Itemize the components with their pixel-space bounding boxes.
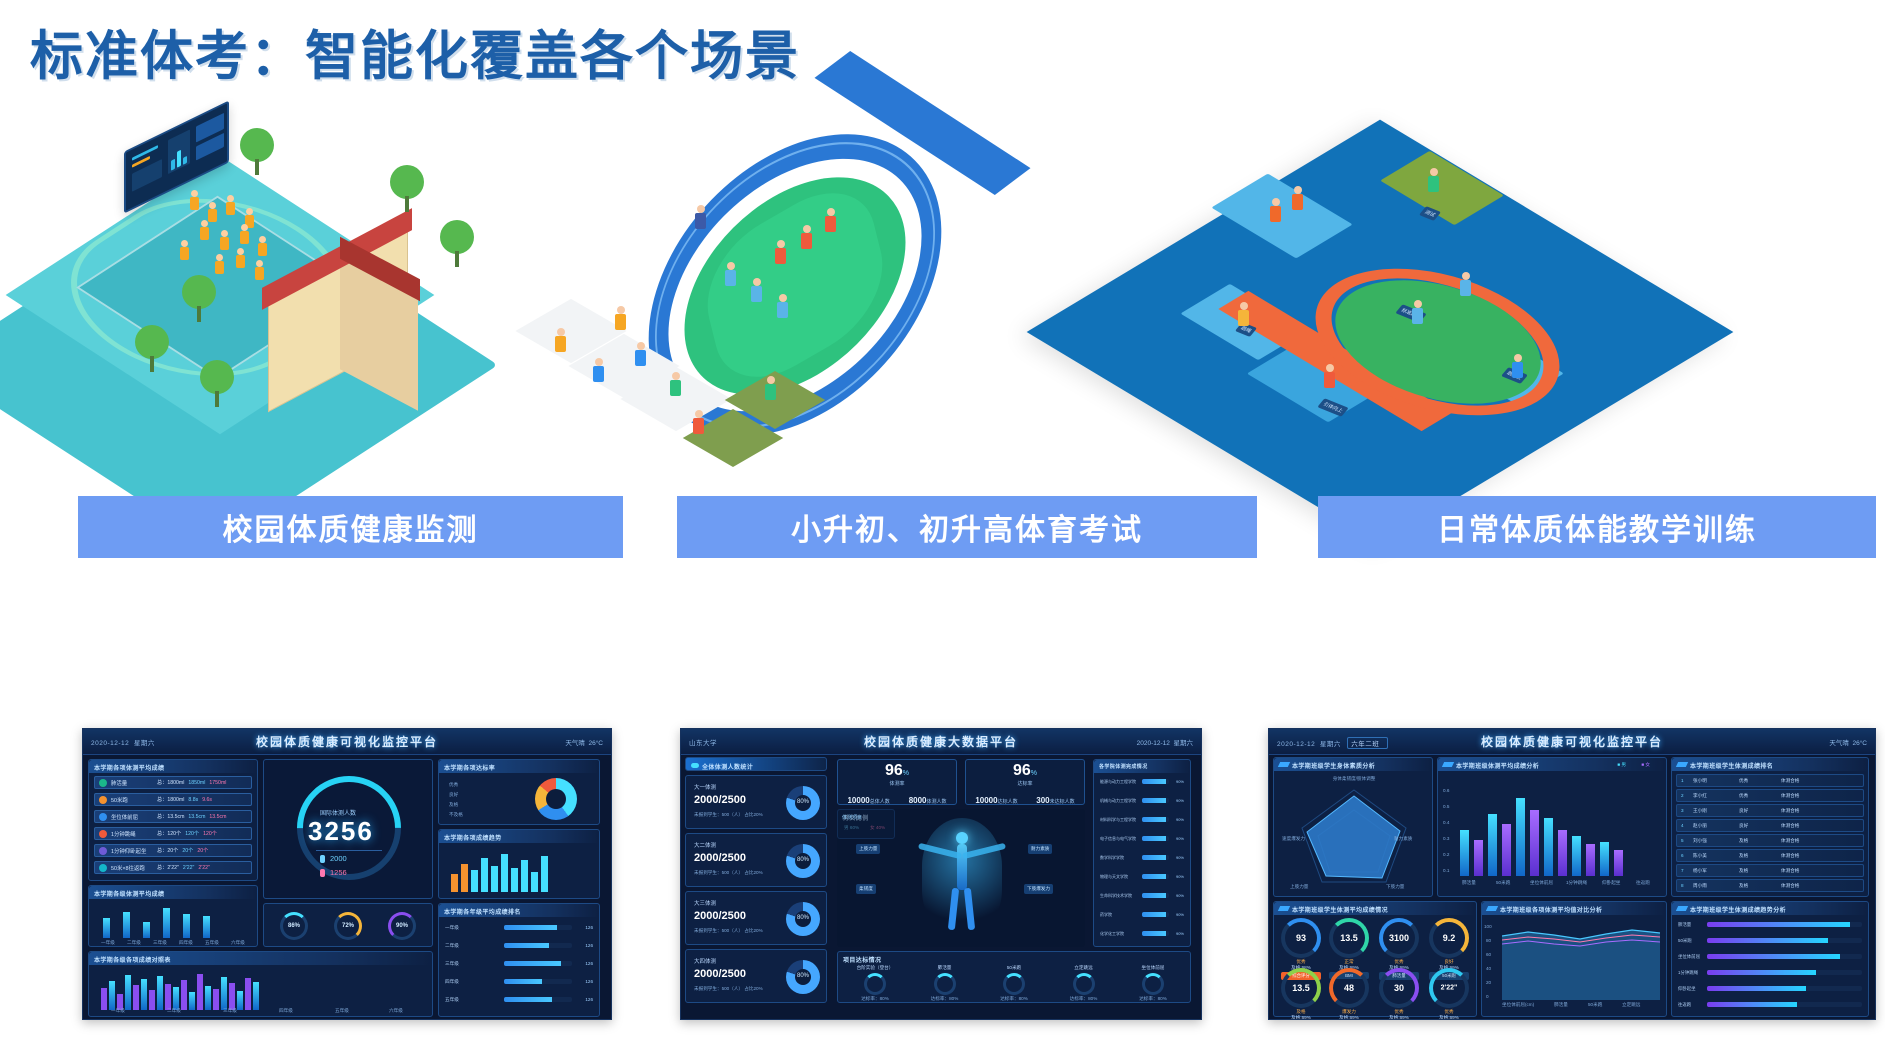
student-name: 赵小丽	[1693, 823, 1735, 829]
panel-title: 项目达标情况	[843, 955, 881, 964]
grade-name: 大四体测	[694, 957, 716, 965]
bar	[123, 912, 130, 938]
rank-value: 126	[575, 943, 593, 948]
bar	[103, 918, 110, 938]
bar-female	[1614, 850, 1623, 876]
college-percent: 90%	[1171, 855, 1184, 860]
kpi-unit: %	[903, 770, 909, 777]
panel-class-gauges[interactable]: 本学期班级学生体测平均成绩情况 93 优秀 及格:68% 综合评分 13.5 正…	[1273, 901, 1477, 1017]
gauge-value: 2'22"	[1433, 985, 1465, 992]
student-name: 陈小美	[1693, 853, 1735, 859]
tree-icon	[440, 220, 474, 267]
dashboard-1-header: 2020-12-12 星期六 校园体质健康可视化监控平台 天气晴 26°C	[83, 729, 611, 755]
panel-title: 本学期班级学生身体素质分析	[1292, 761, 1375, 770]
student-name: 李小红	[1693, 793, 1735, 799]
bar-xtick: 二年级	[127, 940, 141, 946]
gauge-value: 3100	[1383, 933, 1415, 943]
metric-gauge[interactable]: 30 优秀 及格:69% 1分钟仰卧起坐	[1376, 968, 1422, 1020]
area-xtick: 50米跑	[1588, 1002, 1602, 1008]
grade-percent: 80%	[786, 973, 820, 979]
rank-row: 五年级 126	[445, 994, 593, 1005]
college-label: 电子信息与电气学院	[1100, 836, 1140, 842]
hbar-row: 坐位体前屈	[1678, 952, 1862, 961]
item-rate: 达标率：80%	[912, 996, 978, 1002]
pie-legend-item: 优秀	[449, 782, 458, 788]
ring-stat: 72%	[334, 912, 362, 940]
tree-icon	[200, 360, 234, 407]
rank-track	[504, 943, 572, 948]
bar-female	[1474, 840, 1483, 876]
caption-text: 校园体质健康监测	[223, 505, 479, 549]
hbar-track	[1707, 922, 1862, 927]
kpi-n1: 10000	[847, 796, 869, 805]
rank-track	[504, 997, 572, 1002]
bar-xtick: 仰卧起坐	[1602, 880, 1620, 886]
panel-pass-rate-pie[interactable]: 本学期各项达标率 优秀 良好 及格 不及格	[438, 759, 600, 825]
dashboard-2-body: 全体体测人数统计 大一体测 2000/2500 未报到学生：500（人） 占比2…	[681, 755, 1201, 1020]
gauge-value: 48	[1333, 983, 1365, 993]
tree-icon	[390, 165, 424, 212]
caption-banner-daily[interactable]: 日常体质体能教学训练	[1318, 496, 1876, 558]
radar-axis-label: 上肢力量	[1290, 884, 1308, 890]
college-percent: 90%	[1171, 836, 1184, 841]
college-percent: 90%	[1171, 874, 1184, 879]
metric-row: 肺活量 总：1800ml 1850ml 1750ml	[94, 776, 252, 789]
kpi-caption: 体测率	[838, 780, 956, 787]
item-pass-card[interactable]: 立定跳远 达标率：80%	[1051, 965, 1117, 1002]
student-name: 张小明	[1693, 778, 1735, 784]
student-figure	[226, 195, 235, 215]
student-name: 杨小军	[1693, 868, 1735, 874]
body-badge: 上肢力量	[856, 844, 880, 854]
compare-xtick: 四年级	[279, 1008, 293, 1014]
rank-index: 8	[1681, 883, 1689, 888]
rank-track	[504, 979, 572, 984]
metric-gauge[interactable]: 48 爆发力 及格:69% 立定跳远	[1326, 968, 1372, 1020]
metric-row: 50米×8往返跑 总：2'22" 2'22" 2'22"	[94, 861, 252, 874]
grade-ratio: 2000/2500	[694, 968, 746, 980]
grade-name: 大一体测	[694, 783, 716, 791]
runner-figure	[695, 205, 706, 229]
total-gauge-value: 3256	[308, 816, 374, 847]
bar-xtick: 往返跑	[1636, 880, 1650, 886]
item-ring	[934, 973, 956, 995]
rank-index: 1	[1681, 778, 1689, 783]
caption-text: 小升初、初升高体育考试	[791, 505, 1143, 549]
hbar-row: 50米跑	[1678, 936, 1862, 945]
item-ring	[1073, 973, 1095, 995]
metric-female: 20个	[197, 847, 208, 854]
area-ytick: 20	[1486, 980, 1491, 985]
dashboard-1-body: 本学期各项体测平均成绩 肺活量 总：1800ml 1850ml 1750ml 5…	[83, 755, 611, 1020]
illustration-campus	[40, 120, 510, 430]
panel-total-gauge[interactable]: 国际体测人数 3256 2000 1256	[263, 759, 433, 899]
gauge-value: 9.2	[1433, 933, 1465, 943]
dashboard-3-datetime: 2020-12-12 星期六 六年二班	[1277, 737, 1388, 749]
metric-male: 120个	[185, 830, 199, 837]
ring-value: 90%	[391, 923, 413, 929]
college-percent: 90%	[1171, 798, 1184, 803]
item-pass-card[interactable]: 台阶实验（登台） 达标率：80%	[842, 965, 908, 1002]
panel-title: 本学期各项体测平均成绩	[94, 763, 164, 772]
grade-card[interactable]: 大三体测 2000/2500 未报到学生：500（人） 占比20% 80%	[685, 891, 827, 945]
college-percent: 90%	[1171, 893, 1184, 898]
weather-text: 天气晴	[565, 740, 585, 747]
bar-male	[1572, 836, 1581, 876]
weather-text: 天气晴	[1829, 740, 1849, 747]
weekday-text: 星期六	[1320, 741, 1341, 748]
student-figure	[190, 190, 199, 210]
college-row: 材料科学与工程学院 90%	[1100, 814, 1184, 825]
panel-title: 本学期班级学生体测平均成绩情况	[1292, 905, 1388, 914]
college-row: 化学化工学院 90%	[1100, 928, 1184, 939]
metric-female: 9.6s	[202, 797, 212, 803]
bar-xtick: 三年级	[153, 940, 167, 946]
college-row: 数学科学学院 90%	[1100, 852, 1184, 863]
body-badge: 柔韧度	[856, 884, 876, 894]
area-ytick: 60	[1486, 952, 1491, 957]
dashboard-bigdata-platform[interactable]: 山东大学 校园体质健康大数据平台 2020-12-12 星期六 全体体测人数统计…	[680, 728, 1202, 1020]
tree-icon	[182, 275, 216, 322]
college-track	[1142, 931, 1169, 936]
body-badge: 耐力素质	[1028, 844, 1052, 854]
student-score: 及格	[1739, 868, 1777, 874]
grade-percent: 80%	[786, 915, 820, 921]
kpi-box-test-rate[interactable]: 96% 体测率 10000总体人数 8000体测人数	[837, 759, 957, 805]
weekday-text: 星期六	[134, 740, 155, 747]
grade-card[interactable]: 大一体测 2000/2500 未报到学生：500（人） 占比20% 80%	[685, 775, 827, 829]
area-xtick: 肺活量	[1554, 1002, 1568, 1008]
ring-value: 72%	[337, 923, 359, 929]
table-row: 6陈小美及格体测合格	[1676, 849, 1864, 862]
panel-title: 全体体测人数统计	[702, 762, 753, 771]
body-model-left-title: 体测项目	[842, 814, 862, 821]
rank-index: 4	[1681, 823, 1689, 828]
dashboard-1-weather: 天气晴 26°C	[565, 737, 603, 747]
item-title: 台阶实验（登台）	[842, 965, 908, 971]
panel-class-rank[interactable]: 本学期班级学生体测成绩排名 1张小明优秀体测合格 2李小红优秀体测合格 3王小刚…	[1671, 757, 1869, 897]
panel-title: 本学期班级学生体测成绩管理排行	[1874, 764, 1876, 1020]
area-ytick: 80	[1486, 938, 1491, 943]
rank-track	[504, 925, 572, 930]
metric-female: 2'22"	[198, 865, 210, 871]
bar-ytick: 0.4	[1443, 820, 1449, 825]
kpi-n2-caption: 未达标人数	[1050, 799, 1075, 805]
runner-figure	[765, 376, 776, 400]
item-title: 立定跳远	[1051, 965, 1117, 971]
kpi-caption: 达标率	[966, 780, 1084, 787]
student-score: 良好	[1739, 823, 1777, 829]
student-figure	[236, 248, 245, 268]
college-row: 生命科学技术学院 90%	[1100, 890, 1184, 901]
metric-icon	[99, 830, 107, 838]
bar-ytick: 0.3	[1443, 836, 1449, 841]
bar-ytick: 0.2	[1443, 852, 1449, 857]
metric-icon	[99, 847, 107, 855]
panel-class-bars[interactable]: 本学期班级体测平均成绩分析 0.1 0.2 0.3 0.4 0.5 0.6	[1437, 757, 1667, 897]
area-xtick: 坐位体前屈(cm)	[1502, 1002, 1534, 1008]
grade-name: 大二体测	[694, 841, 716, 849]
panel-avg-metrics[interactable]: 本学期各项体测平均成绩 肺活量 总：1800ml 1850ml 1750ml 5…	[88, 759, 258, 881]
gauge-rate: 及格:69%	[1326, 1015, 1372, 1020]
grade-card[interactable]: 大四体测 2000/2500 未报到学生：500（人） 占比20% 80%	[685, 949, 827, 1003]
runner-figure	[801, 225, 812, 249]
metric-total: 总：1800ml	[157, 796, 184, 803]
item-pass-card[interactable]: 50米跑 达标率：80%	[981, 965, 1047, 1002]
grade-note: 未报到学生：500（人） 占比20%	[694, 870, 763, 876]
trainee-figure	[1324, 364, 1335, 388]
bar	[203, 916, 210, 938]
date-text: 2020-12-12	[1277, 741, 1315, 748]
class-select[interactable]: 六年二班	[1347, 737, 1388, 749]
student-figure	[215, 254, 224, 274]
panel-grade-compare[interactable]: 本学期各级各项成绩对照表	[88, 951, 433, 1017]
hbar-row: 肺活量	[1678, 920, 1862, 929]
bar	[183, 914, 190, 938]
radar-axis-label: 速度爆发力	[1282, 836, 1305, 842]
kpi-n1-caption: 达标人数	[998, 799, 1018, 805]
metric-female: 120个	[203, 830, 217, 837]
runner-figure	[615, 306, 626, 330]
grade-ratio: 2000/2500	[694, 910, 746, 922]
rank-row: 一年级 126	[445, 922, 593, 933]
grade-card[interactable]: 大二体测 2000/2500 未报到学生：500（人） 占比20% 80%	[685, 833, 827, 887]
college-label: 物理与天文学院	[1100, 874, 1140, 880]
rank-label: 五年级	[445, 997, 501, 1003]
kpi-percent: 96	[885, 762, 903, 780]
bar-male	[1600, 842, 1609, 876]
bar-female	[1586, 844, 1595, 876]
caption-banner-campus[interactable]: 校园体质健康监测	[78, 496, 623, 558]
bar-male	[1488, 814, 1497, 876]
item-ring	[1003, 973, 1025, 995]
hbar-row: 往返跑	[1678, 1000, 1862, 1009]
college-label: 数学科学学院	[1100, 855, 1140, 861]
student-tag: 体测合格	[1781, 793, 1799, 799]
panel-hbar-trend[interactable]: 本学期班级学生体测成绩趋势分析 肺活量 50米跑 坐位体前屈	[1671, 901, 1869, 1017]
student-name: 周小雨	[1693, 883, 1735, 889]
student-tag: 体测合格	[1781, 823, 1799, 829]
bar-male	[1460, 830, 1469, 876]
item-rate: 达标率：80%	[1051, 996, 1117, 1002]
item-pass-card[interactable]: 坐位体前屈 达标率：80%	[1120, 965, 1186, 1002]
kpi-n2: 8000	[909, 796, 927, 805]
hbar-row: 仰卧起坐	[1678, 984, 1862, 993]
grade-note: 未报到学生：500（人） 占比20%	[694, 986, 763, 992]
caption-banner-exam[interactable]: 小升初、初升高体育考试	[677, 496, 1257, 558]
college-track	[1142, 817, 1169, 822]
item-rate: 达标率：80%	[842, 996, 908, 1002]
grade-percent: 80%	[786, 799, 820, 805]
rank-label: 四年级	[445, 979, 501, 985]
bar-legend-male: ■ 男	[1617, 762, 1626, 768]
metric-row: 1分钟仰卧起坐 总：20个 20个 20个	[94, 844, 252, 857]
trainee-figure	[1512, 354, 1523, 378]
table-row: 3王小刚良好体测合格	[1676, 804, 1864, 817]
student-score: 优秀	[1739, 778, 1777, 784]
student-tag: 体测合格	[1781, 853, 1799, 859]
student-tag: 体测合格	[1781, 883, 1799, 889]
table-row: 5刘小强及格体测合格	[1676, 834, 1864, 847]
student-figure	[258, 236, 267, 256]
dashboard-3-weather: 天气晴 26°C	[1829, 737, 1867, 747]
caption-banner-row: 校园体质健康监测 小升初、初升高体育考试 日常体质体能教学训练	[0, 496, 1885, 558]
panel-title: 本学期各年级平均成绩排名	[444, 907, 521, 916]
dashboard-row: 2020-12-12 星期六 校园体质健康可视化监控平台 天气晴 26°C 本学…	[0, 712, 1885, 1042]
hbar-track	[1707, 954, 1862, 959]
trainee-figure	[1428, 168, 1439, 192]
bar	[163, 908, 170, 938]
dashboard-2-title: 校园体质健康大数据平台	[864, 733, 1018, 750]
bar-female	[1558, 830, 1567, 876]
college-percent: 90%	[1171, 931, 1184, 936]
panel-title: 本学期各级各项成绩对照表	[94, 955, 171, 964]
gauge-value: 13.5	[1285, 983, 1317, 993]
dashboard-3-body: 本学期班级学生身体素质分析 身体柔韧度/肢体调整 速度爆发力 耐力素质 上肢力量…	[1269, 755, 1875, 1020]
bar-female	[1530, 810, 1539, 876]
metric-row: 1分钟跳绳 总：120个 120个 120个	[94, 827, 252, 840]
metric-gauge[interactable]: 13.5 及格 及格:69% 坐位体前屈	[1278, 968, 1324, 1020]
college-label: 化学化工学院	[1100, 931, 1140, 937]
table-row: 1张小明优秀体测合格	[1676, 774, 1864, 787]
compare-xtick: 六年级	[389, 1008, 403, 1014]
metric-row: 50米跑 总：1800ml 8.8s 9.6s	[94, 793, 252, 806]
pie-legend-item: 及格	[449, 802, 458, 808]
date-text: 2020-12-12	[1137, 740, 1170, 747]
college-row: 药学院 90%	[1100, 909, 1184, 920]
panel-ring-stats[interactable]: 86% 72% 90%	[263, 903, 433, 947]
student-figure	[220, 230, 229, 250]
pie-legend-item: 不及格	[449, 812, 463, 818]
rank-index: 5	[1681, 838, 1689, 843]
kpi-n1-caption: 总体人数	[870, 799, 890, 805]
trainee-figure	[1460, 272, 1471, 296]
metric-name: 50米×8往返跑	[111, 864, 153, 872]
student-figure	[240, 224, 249, 244]
dashboard-2-header: 山东大学 校园体质健康大数据平台 2020-12-12 星期六	[681, 729, 1201, 755]
panel-total-count[interactable]: 全体体测人数统计	[685, 757, 827, 771]
item-pass-card[interactable]: 肺活量 达标率：80%	[912, 965, 978, 1002]
item-rate: 达标率：80%	[981, 996, 1047, 1002]
page-title: 标准体考：智能化覆盖各个场景	[30, 14, 800, 90]
student-tag: 体测合格	[1781, 868, 1799, 874]
metric-name: 1分钟仰卧起坐	[111, 847, 153, 855]
runner-figure	[670, 372, 681, 396]
ring-stat: 90%	[388, 912, 416, 940]
area-ytick: 100	[1484, 924, 1492, 929]
rank-index: 6	[1681, 853, 1689, 858]
college-label: 生命科学技术学院	[1100, 893, 1140, 899]
panel-area-compare[interactable]: 本学期班级各项体测平均值对比分析 0 20 40 60 80 100 坐位体前屈…	[1481, 901, 1667, 1017]
dashboard-class-training[interactable]: 2020-12-12 星期六 六年二班 校园体质健康可视化监控平台 天气晴 26…	[1268, 728, 1876, 1020]
pie-legend-item: 良好	[449, 792, 458, 798]
area-ytick: 40	[1486, 966, 1491, 971]
tree-icon	[240, 128, 274, 175]
metric-icon	[99, 779, 107, 787]
panel-radar[interactable]: 本学期班级学生身体素质分析 身体柔韧度/肢体调整 速度爆发力 耐力素质 上肢力量…	[1273, 757, 1433, 897]
college-track	[1142, 874, 1169, 879]
metric-gauge[interactable]: 2'22" 优秀 及格:69% 50米×8往返跑	[1426, 968, 1472, 1020]
panel-title: 本学期各项达标率	[444, 763, 495, 772]
bar-ytick: 0.6	[1443, 788, 1449, 793]
panel-item-pass[interactable]: 项目达标情况 台阶实验（登台） 达标率：80% 肺活量 达标率：80%	[837, 951, 1191, 1003]
rank-row: 四年级 126	[445, 976, 593, 987]
metric-icon	[99, 813, 107, 821]
rank-value: 126	[575, 961, 593, 966]
gauge-rate: 及格:69%	[1426, 1015, 1472, 1020]
panel-title: 本学期班级学生体测成绩趋势分析	[1690, 905, 1786, 914]
bar-male	[1544, 818, 1553, 876]
gauge-value: 30	[1383, 983, 1415, 993]
metric-male: 1850ml	[188, 780, 205, 786]
panel-grade-ranking[interactable]: 本学期各年级平均成绩排名 一年级 126 二年级 126 三年级 1	[438, 903, 600, 1017]
item-title: 50米跑	[981, 965, 1047, 971]
grade-percent: 80%	[786, 857, 820, 863]
hbar-label: 坐位体前屈	[1678, 954, 1704, 960]
college-track	[1142, 836, 1169, 841]
panel-trend-line[interactable]: 本学期各项成绩趋势	[438, 829, 600, 899]
item-ring	[1142, 973, 1164, 995]
bar-xtick: 六年级	[231, 940, 245, 946]
student-score: 及格	[1739, 838, 1777, 844]
bar-xtick: 肺活量	[1462, 880, 1476, 886]
table-row: 8周小雨及格体测合格	[1676, 879, 1864, 892]
metric-total: 总：2'22"	[157, 864, 179, 871]
bar-female	[1502, 824, 1511, 876]
college-percent: 90%	[1171, 817, 1184, 822]
item-ring	[864, 973, 886, 995]
bar	[143, 922, 150, 938]
illustration-exam	[575, 110, 1095, 550]
grade-ratio: 2000/2500	[694, 852, 746, 864]
college-track	[1142, 893, 1169, 898]
bar-ytick: 0.1	[1443, 868, 1449, 873]
radar-axis-label: 耐力素质	[1394, 836, 1412, 842]
dashboard-campus-monitor[interactable]: 2020-12-12 星期六 校园体质健康可视化监控平台 天气晴 26°C 本学…	[82, 728, 612, 1020]
item-title: 肺活量	[912, 965, 978, 971]
panel-grade-bars[interactable]: 本学期各级体测平均成绩 一年级 二年级 三年级 四年级 五年级 六年级	[88, 885, 258, 947]
metric-male: 13.5cm	[188, 814, 205, 820]
metric-row: 坐位体前屈 总：13.5cm 13.5cm 13.5cm	[94, 810, 252, 823]
rank-row: 三年级 126	[445, 958, 593, 969]
panel-title: 本学期班级体测平均成绩分析	[1456, 761, 1539, 770]
panel-title: 本学期各项成绩趋势	[444, 833, 502, 842]
metric-total: 总：13.5cm	[157, 813, 184, 820]
metric-male: 20个	[182, 847, 193, 854]
panel-college-progress[interactable]: 各学院体测完成情况 能源与动力工程学院 90% 机械与动力工程学院 90% 材料…	[1093, 759, 1191, 947]
runner-figure	[777, 294, 788, 318]
kpi-box-pass-rate[interactable]: 96% 达标率 10000达标人数 300未达标人数	[965, 759, 1085, 805]
ring-value: 86%	[283, 923, 305, 929]
trainee-figure	[1270, 198, 1281, 222]
metric-total: 总：20个	[157, 847, 178, 854]
student-tag: 体测合格	[1781, 778, 1799, 784]
dashboard-3-title: 校园体质健康可视化监控平台	[1481, 733, 1663, 750]
gauge-value: 93	[1285, 933, 1317, 943]
student-score: 优秀	[1739, 793, 1777, 799]
kpi-percent: 96	[1013, 762, 1031, 780]
metric-male: 8.8s	[188, 797, 198, 803]
student-tag: 体测合格	[1781, 838, 1799, 844]
compare-xtick: 三年级	[223, 1008, 237, 1014]
college-row: 机械与动力工程学院 90%	[1100, 795, 1184, 806]
hbar-row: 1分钟跳绳	[1678, 968, 1862, 977]
hbar-label: 肺活量	[1678, 922, 1704, 928]
rank-value: 126	[575, 979, 593, 984]
dashboard-2-datetime: 2020-12-12 星期六	[1137, 737, 1193, 747]
metric-male: 2'22"	[183, 865, 195, 871]
college-row: 物理与天文学院 90%	[1100, 871, 1184, 882]
